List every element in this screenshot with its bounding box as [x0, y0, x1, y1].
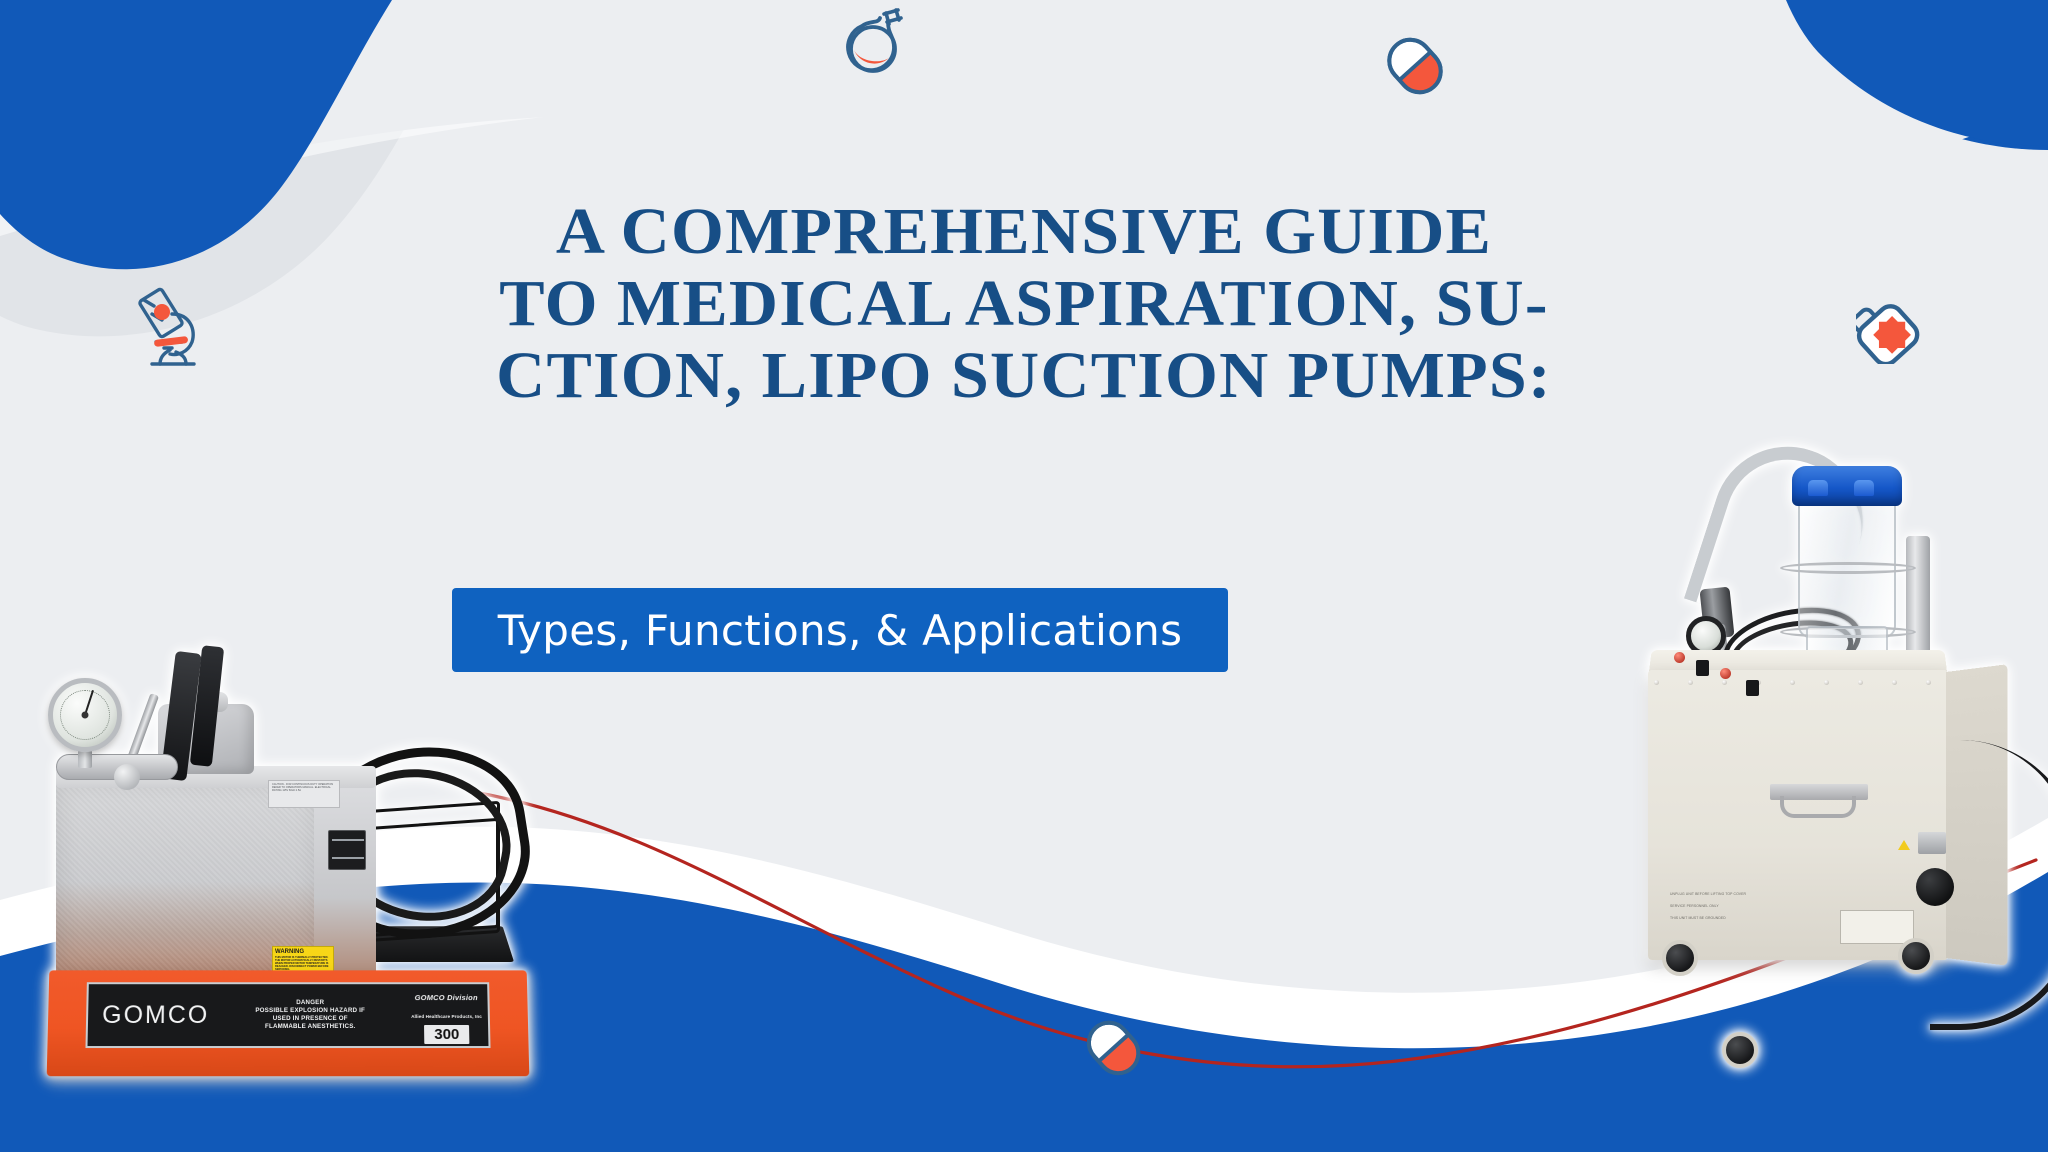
- danger-line-4: FLAMMABLE ANESTHETICS.: [265, 1023, 356, 1030]
- gomco-warning-title: WARNING: [275, 949, 331, 956]
- gomco-warning-badge: WARNING THIS MOTOR IS THERMALLY PROTECTE…: [272, 946, 334, 972]
- caster-wheel-rear: [1898, 938, 1934, 974]
- headline-line-2: TO MEDICAL ASPIRATION, SU-: [0, 268, 2048, 340]
- capsule-icon-2: [1084, 1014, 1146, 1087]
- gomco-aspirator-photo: CAUTION - FOR CONTINUOUS DUTY OPERATION …: [28, 630, 548, 1100]
- gomco-danger-text: DANGER POSSIBLE EXPLOSION HAZARD IF USED…: [209, 999, 411, 1031]
- gomco-vacuum-gauge: [48, 678, 122, 752]
- portable-suction-unit-photo: UNPLUG UNIT BEFORE LIFTING TOP COVER SER…: [1630, 440, 2048, 1120]
- caster-wheel-front: [1662, 940, 1698, 976]
- rivet: [1722, 680, 1727, 685]
- gomco-base: GOMCO DANGER POSSIBLE EXPLOSION HAZARD I…: [47, 970, 530, 1076]
- rivet: [1926, 680, 1931, 685]
- unit-power-cord: [1930, 740, 2048, 1030]
- rivet: [1892, 680, 1897, 685]
- unit-rating-plate: [1840, 910, 1914, 944]
- subtitle-banner: Types, Functions, & Applications: [452, 588, 1228, 672]
- danger-line-2: POSSIBLE EXPLOSION HAZARD IF: [255, 1007, 365, 1014]
- jar-bracket-upper: [1780, 562, 1916, 574]
- gauge-hub: [82, 712, 89, 719]
- gomco-model-number: 300: [424, 1024, 469, 1043]
- jar-port-left: [1808, 480, 1828, 496]
- unit-caution-text-1: UNPLUG UNIT BEFORE LIFTING TOP COVER: [1670, 892, 1800, 896]
- rivet: [1688, 680, 1693, 685]
- unit-caution-text-2: SERVICE PERSONNEL ONLY: [1670, 904, 1800, 908]
- capsule-icon: [1384, 30, 1446, 107]
- electrical-warning-triangle-icon: [1898, 840, 1910, 850]
- unit-carry-handle: [1780, 796, 1856, 818]
- flask-icon: [846, 8, 912, 85]
- danger-line-1: DANGER: [296, 999, 324, 1006]
- power-toggle-switch-1[interactable]: [1696, 660, 1709, 676]
- gomco-brand-text: GOMCO: [102, 1001, 210, 1030]
- danger-line-3: USED IN PRESENCE OF: [273, 1015, 348, 1022]
- gomco-division-block: GOMCO Division Allied Healthcare Product…: [411, 987, 483, 1044]
- gomco-rocker-switch: [328, 830, 366, 870]
- gomco-spec-label: CAUTION - FOR CONTINUOUS DUTY OPERATION …: [268, 780, 340, 808]
- jar-port-right: [1854, 480, 1874, 496]
- collection-jar-lid: [1792, 466, 1902, 506]
- rivet: [1858, 680, 1863, 685]
- headline-line-3: CTION, LIPO SUCTION PUMPS:: [0, 340, 2048, 412]
- rivet: [1790, 680, 1795, 685]
- power-indicator-led-1: [1674, 652, 1685, 663]
- gomco-division-line1: GOMCO Division: [415, 993, 478, 1002]
- unit-rivet-row: [1654, 680, 1946, 686]
- power-indicator-led-2: [1720, 668, 1731, 679]
- rivet: [1654, 680, 1659, 685]
- unit-caution-text-3: THIS UNIT MUST BE GROUNDED: [1670, 916, 1800, 920]
- banner-canvas: A COMPREHENSIVE GUIDE TO MEDICAL ASPIRAT…: [0, 0, 2048, 1152]
- caster-wheel-bottom: [1722, 1032, 1758, 1068]
- gomco-nameplate: GOMCO DANGER POSSIBLE EXPLOSION HAZARD I…: [85, 982, 490, 1048]
- gomco-warning-body: THIS MOTOR IS THERMALLY PROTECTED. THE M…: [275, 956, 328, 972]
- subtitle-text: Types, Functions, & Applications: [498, 606, 1183, 655]
- gomco-division-line2: Allied Healthcare Products, Inc: [411, 1014, 482, 1019]
- page-title: A COMPREHENSIVE GUIDE TO MEDICAL ASPIRAT…: [0, 196, 2048, 412]
- power-toggle-switch-2[interactable]: [1746, 680, 1759, 696]
- headline-line-1: A COMPREHENSIVE GUIDE: [0, 196, 2048, 268]
- gomco-regulator-knob: [114, 764, 140, 790]
- rivet: [1824, 680, 1829, 685]
